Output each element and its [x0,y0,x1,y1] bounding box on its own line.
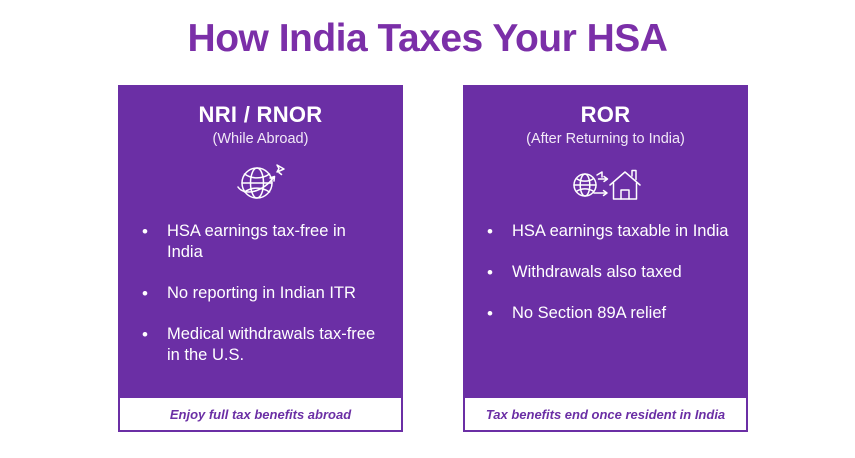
cards-container: NRI / RNOR (While Abroad) [118,85,748,432]
bullet-item: • Withdrawals also taxed [485,262,730,283]
bullet-dot-icon: • [485,262,512,283]
card-footer-text: Tax benefits end once resident in India [486,407,725,422]
card-footer-nri-rnor: Enjoy full tax benefits abroad [118,396,403,432]
card-body-nri-rnor: NRI / RNOR (While Abroad) [118,85,403,396]
bullet-item: • HSA earnings taxable in India [485,221,730,242]
card-nri-rnor: NRI / RNOR (While Abroad) [118,85,403,432]
globe-airplane-icon [118,157,403,207]
bullet-list-ror: • HSA earnings taxable in India • Withdr… [463,207,748,324]
card-body-ror: ROR (After Returning to India) [463,85,748,396]
bullet-dot-icon: • [485,303,512,324]
bullet-dot-icon: • [140,283,167,304]
bullet-text: Withdrawals also taxed [512,262,730,283]
bullet-item: • No reporting in Indian ITR [140,283,385,304]
bullet-dot-icon: • [140,324,167,345]
card-ror: ROR (After Returning to India) [463,85,748,432]
bullet-item: • HSA earnings tax-free in India [140,221,385,263]
bullet-list-nri-rnor: • HSA earnings tax-free in India • No re… [118,207,403,366]
infographic-page: How India Taxes Your HSA NRI / RNOR (Whi… [0,0,855,458]
card-footer-ror: Tax benefits end once resident in India [463,396,748,432]
globe-house-icon [463,157,748,207]
bullet-text: No Section 89A relief [512,303,730,324]
bullet-dot-icon: • [140,221,167,242]
bullet-item: • Medical withdrawals tax-free in the U.… [140,324,385,366]
card-subtitle-ror: (After Returning to India) [463,127,748,148]
card-title-ror: ROR [463,85,748,127]
card-title-nri-rnor: NRI / RNOR [118,85,403,127]
page-title: How India Taxes Your HSA [0,16,855,63]
bullet-text: HSA earnings taxable in India [512,221,730,242]
card-subtitle-nri-rnor: (While Abroad) [118,127,403,148]
bullet-dot-icon: • [485,221,512,242]
bullet-text: HSA earnings tax-free in India [167,221,385,263]
bullet-item: • No Section 89A relief [485,303,730,324]
bullet-text: Medical withdrawals tax-free in the U.S. [167,324,385,366]
bullet-text: No reporting in Indian ITR [167,283,385,304]
card-footer-text: Enjoy full tax benefits abroad [170,407,351,422]
